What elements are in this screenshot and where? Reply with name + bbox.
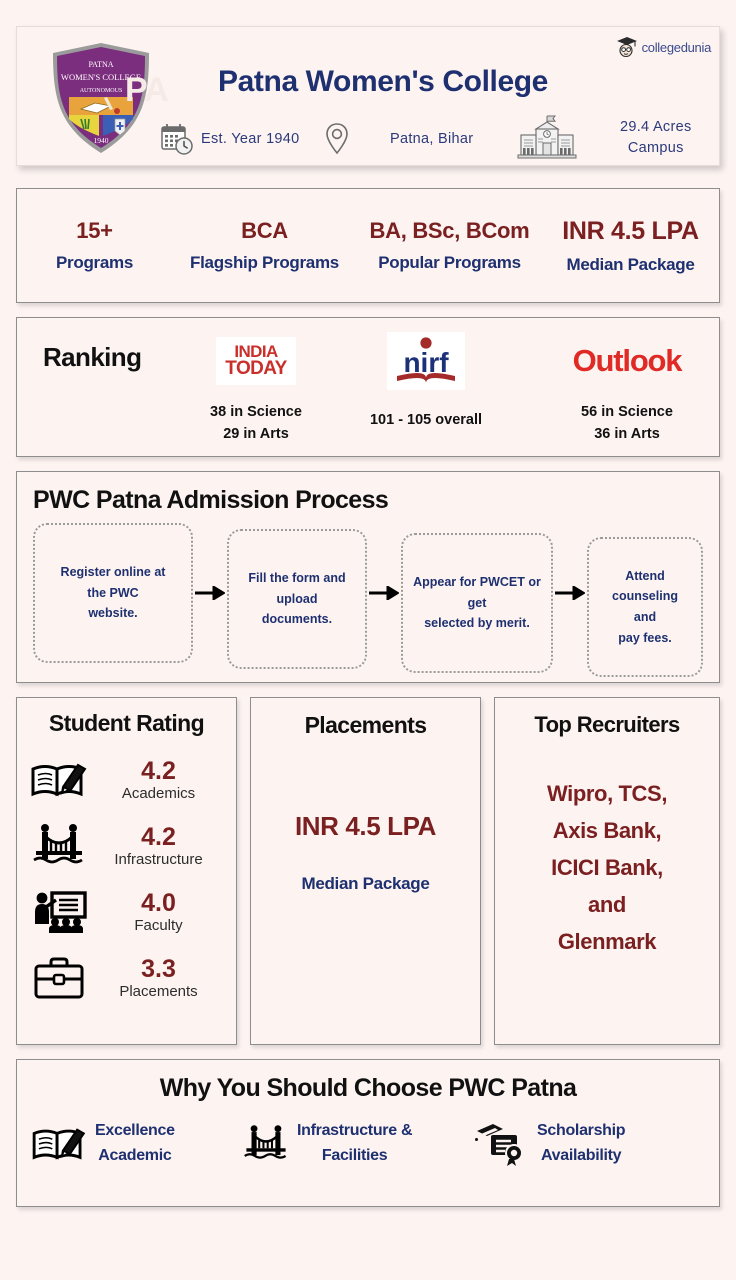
nirf-logo: nirf [347, 332, 505, 390]
top-recruiters-list: Wipro, TCS, Axis Bank, ICICI Bank, and G… [505, 776, 709, 961]
admission-step-4-text: Attend counseling and pay fees. [597, 566, 693, 649]
right-arrow-icon [369, 586, 399, 600]
admission-step-2-text: Fill the form and upload documents. [248, 568, 345, 630]
why-choose-panel: Why You Should Choose PWC Patna Exc [16, 1059, 720, 1207]
admission-arrow-1 [193, 523, 227, 663]
stat-programs-label: Programs [17, 253, 172, 273]
admission-title: PWC Patna Admission Process [33, 486, 703, 515]
scholarship-certificate-icon [473, 1121, 529, 1167]
admission-step-3: Appear for PWCET or get selected by meri… [401, 533, 553, 673]
why-scholar-line1: Scholarship [537, 1119, 625, 1144]
stat-flagship-label: Flagship Programs [172, 253, 357, 273]
top-recruiters-panel: Top Recruiters Wipro, TCS, Axis Bank, IC… [494, 697, 720, 1045]
recruiter-line-2: Axis Bank, [505, 813, 709, 850]
graduate-cap-mascot-icon [615, 35, 639, 59]
why-item-infrastructure-label: Infrastructure & Facilities [297, 1119, 412, 1169]
why-scholar-line2: Availability [537, 1144, 625, 1169]
student-rating-panel: Student Rating [16, 697, 237, 1045]
page-title: Patna Women's College [17, 65, 719, 99]
ranking-panel: Ranking INDIA TODAY 38 in Science 29 in … [16, 317, 720, 457]
why-item-academic: Excellence Academic [31, 1119, 243, 1169]
recruiter-line-3: ICICI Bank, [505, 850, 709, 887]
collegedunia-label: collegedunia [642, 40, 711, 55]
rating-row-faculty: 4.0 Faculty [27, 879, 226, 945]
placements-subtitle: Median Package [261, 874, 470, 894]
recruiter-line-4: and [505, 887, 709, 924]
right-arrow-icon [555, 586, 585, 600]
nirf-wordmark: nirf [403, 347, 449, 378]
stat-package-value: INR 4.5 LPA [542, 217, 719, 246]
meta-location: Patna, Bihar [322, 121, 473, 157]
book-pencil-icon [27, 757, 91, 803]
stat-flagship-value: BCA [172, 218, 357, 244]
meta-established: Est. Year 1940 [159, 121, 300, 157]
ranking-nirf: nirf 101 - 105 overall [347, 332, 505, 432]
calendar-clock-icon [159, 121, 195, 157]
admission-process-panel: PWC Patna Admission Process Register onl… [16, 471, 720, 683]
rating-infrastructure-name: Infrastructure [91, 851, 226, 868]
india-today-line2: TODAY [225, 360, 286, 378]
stat-programs: 15+ Programs [17, 218, 172, 273]
admission-step-1-text: Register online at the PWC website. [61, 562, 166, 624]
stat-flagship: BCA Flagship Programs [172, 218, 357, 273]
india-today-logo: INDIA TODAY [189, 332, 323, 390]
admission-step-4: Attend counseling and pay fees. [587, 537, 703, 677]
mid-row: Student Rating [16, 697, 720, 1045]
recruiter-line-1: Wipro, TCS, [505, 776, 709, 813]
briefcase-icon [27, 956, 91, 1000]
meta-location-label: Patna, Bihar [390, 131, 473, 147]
meta-campus: 29.4 Acres Campus [514, 113, 692, 163]
stat-popular-value: BA, BSc, BCom [357, 218, 542, 244]
why-item-scholarship-label: Scholarship Availability [537, 1119, 625, 1169]
admission-arrow-3 [553, 523, 587, 663]
ranking-nirf-line1: 101 - 105 overall [347, 410, 505, 432]
admission-arrow-2 [367, 523, 401, 663]
teacher-board-icon [27, 889, 91, 935]
placements-value: INR 4.5 LPA [261, 811, 470, 842]
campus-building-icon [514, 113, 580, 163]
meta-campus-line1: 29.4 Acres [620, 117, 692, 138]
why-academic-line1: Excellence [95, 1119, 175, 1144]
why-item-academic-label: Excellence Academic [95, 1119, 175, 1169]
rating-row-academics: 4.2 Academics [27, 747, 226, 813]
outlook-logo: Outlook [537, 332, 717, 390]
admission-step-1: Register online at the PWC website. [33, 523, 193, 663]
ranking-outlook: Outlook 56 in Science 36 in Arts [537, 332, 717, 446]
rating-faculty-score: 4.0 [91, 890, 226, 916]
right-arrow-icon [195, 586, 225, 600]
ranking-india-today: INDIA TODAY 38 in Science 29 in Arts [189, 332, 323, 446]
rating-row-placements: 3.3 Placements [27, 945, 226, 1011]
rating-placements-text: 3.3 Placements [91, 956, 226, 1000]
bridge-icon [243, 1122, 289, 1166]
rating-infrastructure-score: 4.2 [91, 824, 226, 850]
stat-package: INR 4.5 LPA Median Package [542, 217, 719, 275]
student-rating-title: Student Rating [27, 710, 226, 737]
rating-row-infrastructure: 4.2 Infrastructure [27, 813, 226, 879]
stat-popular: BA, BSc, BCom Popular Programs [357, 218, 542, 273]
why-choose-title: Why You Should Choose PWC Patna [17, 1074, 719, 1103]
location-pin-icon [322, 121, 352, 157]
placements-panel: Placements INR 4.5 LPA Median Package [250, 697, 481, 1045]
book-pencil-icon [31, 1122, 87, 1166]
header-banner: PATNA WOMEN'S COLLEGE AUTONOMOUS 1940 PA… [16, 26, 720, 166]
why-infra-line1: Infrastructure & [297, 1119, 412, 1144]
why-item-infrastructure: Infrastructure & Facilities [243, 1119, 473, 1169]
stat-programs-value: 15+ [17, 218, 172, 244]
student-rating-list: 4.2 Academics [27, 747, 226, 1011]
meta-campus-label: 29.4 Acres Campus [620, 117, 692, 159]
rating-faculty-text: 4.0 Faculty [91, 890, 226, 934]
ranking-ol-line2: 36 in Arts [537, 424, 717, 446]
why-choose-row: Excellence Academic [17, 1119, 719, 1169]
top-recruiters-title: Top Recruiters [505, 712, 709, 738]
ranking-it-line1: 38 in Science [189, 402, 323, 424]
meta-campus-line2: Campus [620, 138, 692, 159]
outlook-wordmark: Outlook [573, 343, 682, 379]
stat-popular-label: Popular Programs [357, 253, 542, 273]
meta-established-label: Est. Year 1940 [201, 131, 300, 147]
header-meta-row: Est. Year 1940 Patna, Bihar [17, 113, 719, 166]
admission-step-3-text: Appear for PWCET or get selected by meri… [413, 572, 541, 634]
stat-package-label: Median Package [542, 255, 719, 275]
key-stats-strip: 15+ Programs BCA Flagship Programs BA, B… [16, 188, 720, 303]
ranking-it-line2: 29 in Arts [189, 424, 323, 446]
rating-academics-score: 4.2 [91, 758, 226, 784]
ranking-nirf-value: 101 - 105 overall [347, 410, 505, 432]
why-academic-line2: Academic [95, 1144, 175, 1169]
rating-academics-text: 4.2 Academics [91, 758, 226, 802]
rating-placements-score: 3.3 [91, 956, 226, 982]
rating-infrastructure-text: 4.2 Infrastructure [91, 824, 226, 868]
ranking-title: Ranking [43, 342, 141, 373]
admission-step-2: Fill the form and upload documents. [227, 529, 367, 669]
ranking-ol-line1: 56 in Science [537, 402, 717, 424]
why-item-scholarship: Scholarship Availability [473, 1119, 705, 1169]
admission-flow: Register online at the PWC website. Fill… [33, 523, 703, 677]
ranking-outlook-value: 56 in Science 36 in Arts [537, 402, 717, 446]
ranking-india-today-value: 38 in Science 29 in Arts [189, 402, 323, 446]
rating-faculty-name: Faculty [91, 917, 226, 934]
rating-placements-name: Placements [91, 983, 226, 1000]
infographic-page: PATNA WOMEN'S COLLEGE AUTONOMOUS 1940 PA… [0, 26, 736, 1280]
bridge-icon [27, 823, 91, 869]
placements-title: Placements [261, 712, 470, 739]
collegedunia-logo[interactable]: collegedunia [615, 35, 711, 59]
rating-academics-name: Academics [91, 785, 226, 802]
why-infra-line2: Facilities [297, 1144, 412, 1169]
recruiter-line-5: Glenmark [505, 924, 709, 961]
